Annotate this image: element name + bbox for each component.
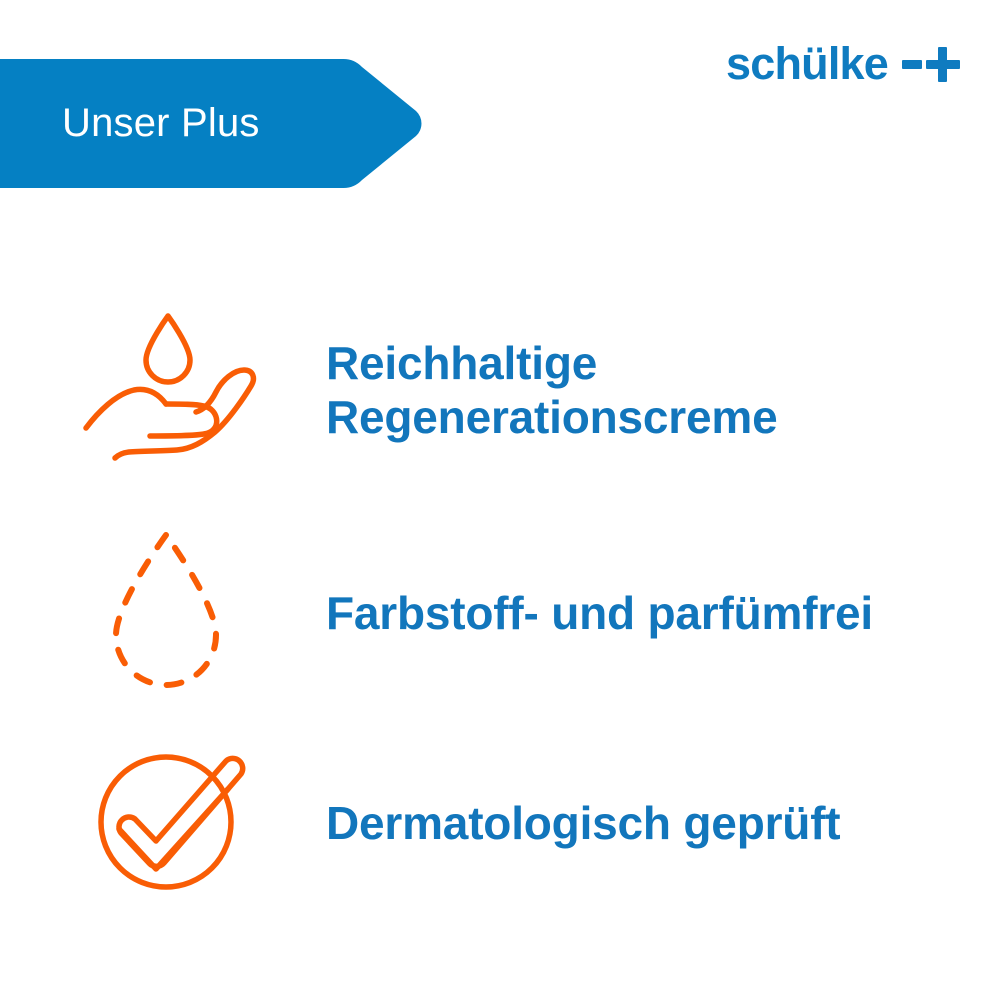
feature-row: Dermatologisch geprüft (0, 745, 1000, 900)
feature-label: Dermatologisch geprüft (326, 796, 840, 850)
logo-wordmark: schülke (726, 41, 888, 86)
promo-panel: Unser Plus schülke (0, 0, 1000, 1000)
dash-plus-icon (902, 44, 960, 84)
banner-title: Unser Plus (62, 59, 362, 188)
hand-with-droplet-icon (78, 308, 258, 473)
feature-row: Farbstoff- und parfümfrei (0, 525, 1000, 700)
check-in-circle-icon (95, 745, 255, 900)
feature-label: Farbstoff- und parfümfrei (326, 586, 873, 640)
feature-label: Reichhaltige Regenerationscreme (326, 336, 777, 444)
dashed-droplet-icon (96, 525, 236, 700)
feature-icon-wrapper (0, 300, 250, 480)
feature-icon-wrapper (0, 525, 250, 700)
schuelke-logo: schülke (726, 41, 960, 86)
feature-icon-wrapper (0, 745, 250, 900)
feature-row: Reichhaltige Regenerationscreme (0, 300, 1000, 480)
